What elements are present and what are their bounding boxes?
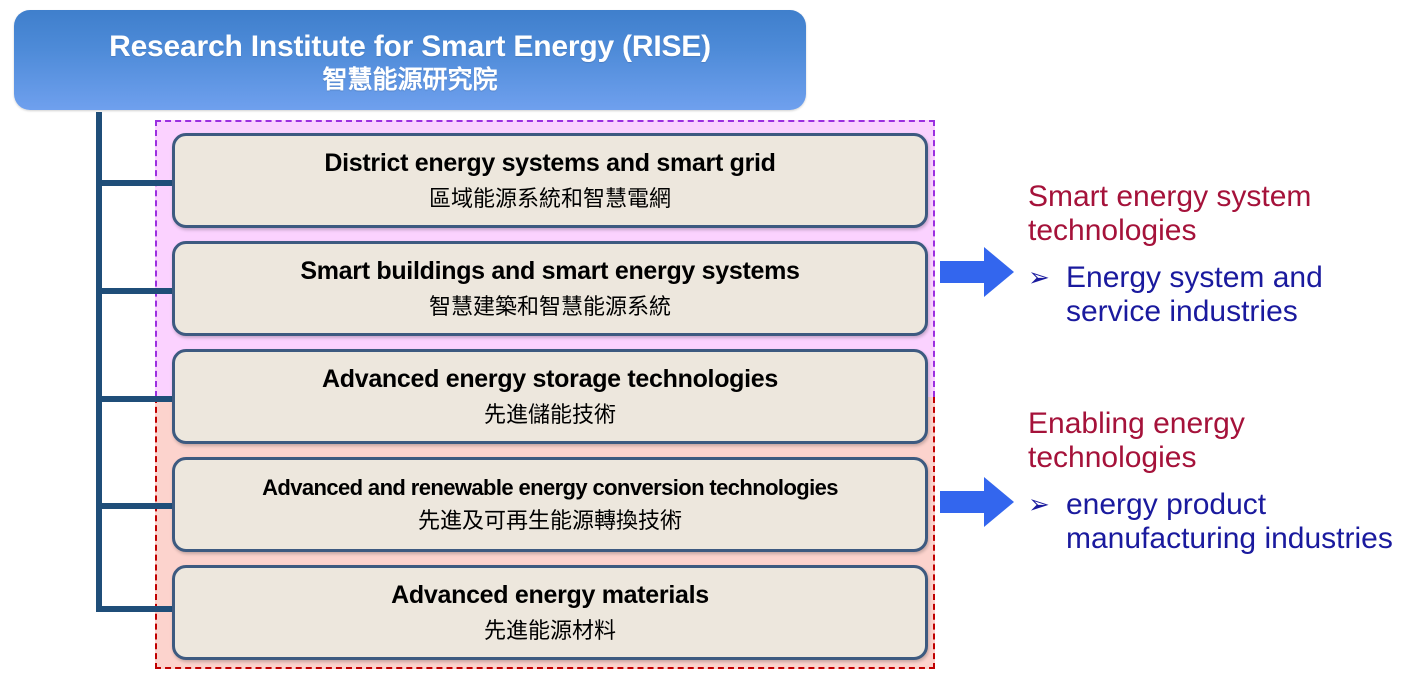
right-block-arrow-icon-2 [940, 477, 1014, 527]
institute-title-chinese: 智慧能源研究院 [322, 66, 497, 95]
connector-branch-3 [96, 396, 178, 402]
outcome-block-enabling-energy: Enabling energy technologies ➢ energy pr… [1028, 407, 1396, 555]
institute-title-english: Research Institute for Smart Energy (RIS… [109, 30, 711, 63]
outcome-bullet-row-2: ➢ energy product manufacturing industrie… [1028, 488, 1396, 555]
outcome-heading-1: Smart energy system technologies [1028, 180, 1396, 247]
topic-box-2-label-en: Smart buildings and smart energy systems [300, 258, 799, 286]
outcome-bullet-row-1: ➢ Energy system and service industries [1028, 261, 1396, 328]
right-block-arrow-icon-1 [940, 247, 1014, 297]
connector-branch-4 [96, 503, 178, 509]
topic-box-1-label-zh: 區域能源系統和智慧電網 [429, 186, 671, 211]
outcome-bullet-text-2: energy product manufacturing industries [1066, 488, 1396, 555]
topic-box-5[interactable]: Advanced energy materials 先進能源材料 [172, 565, 928, 660]
topic-box-2-label-zh: 智慧建築和智慧能源系統 [429, 294, 671, 319]
institute-header-banner: Research Institute for Smart Energy (RIS… [14, 10, 806, 110]
topic-box-3-label-zh: 先進儲能技術 [484, 402, 616, 427]
connector-trunk-line [96, 112, 102, 612]
topic-box-2[interactable]: Smart buildings and smart energy systems… [172, 241, 928, 336]
outcome-bullet-text-1: Energy system and service industries [1066, 261, 1396, 328]
topic-box-4-label-en: Advanced and renewable energy conversion… [262, 476, 838, 500]
outcome-block-smart-energy: Smart energy system technologies ➢ Energ… [1028, 180, 1396, 328]
topic-box-1-label-en: District energy systems and smart grid [324, 150, 775, 178]
topic-box-5-label-zh: 先進能源材料 [484, 618, 616, 643]
topic-box-1[interactable]: District energy systems and smart grid 區… [172, 133, 928, 228]
diagram-canvas: Research Institute for Smart Energy (RIS… [0, 0, 1401, 686]
outcome-heading-2: Enabling energy technologies [1028, 407, 1396, 474]
connector-branch-5 [96, 606, 178, 612]
topic-box-3-label-en: Advanced energy storage technologies [322, 366, 778, 394]
topic-box-4[interactable]: Advanced and renewable energy conversion… [172, 457, 928, 552]
topic-box-5-label-en: Advanced energy materials [391, 582, 709, 610]
topic-box-4-label-zh: 先進及可再生能源轉換技術 [418, 508, 682, 533]
connector-branch-2 [96, 288, 178, 294]
topic-box-3[interactable]: Advanced energy storage technologies 先進儲… [172, 349, 928, 444]
connector-branch-1 [96, 180, 178, 186]
chevron-bullet-icon-2: ➢ [1028, 488, 1066, 520]
chevron-bullet-icon-1: ➢ [1028, 261, 1066, 293]
